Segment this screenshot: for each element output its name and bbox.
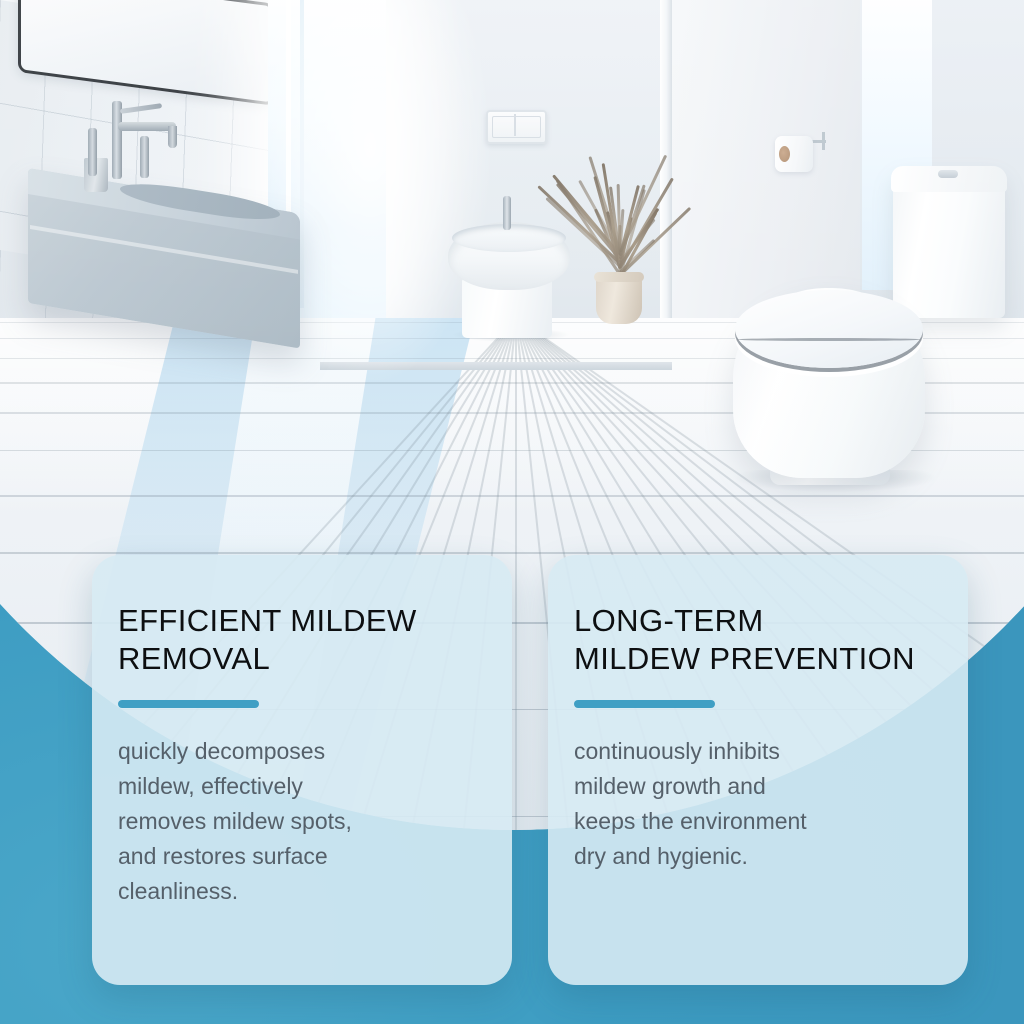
floor-grout-line-h [0,552,1024,553]
baseboard [320,362,672,370]
poster-canvas: EFFICIENT MILDEW REMOVAL quickly decompo… [0,0,1024,1024]
faucet-handle-right [140,136,149,178]
bidet-faucet [503,196,511,230]
toilet-paper-core [779,146,790,162]
faucet-spout-tip [168,126,177,148]
card-content: LONG-TERM MILDEW PREVENTION continuously… [548,555,968,874]
accent-bar [118,700,259,708]
card-body-text: quickly decomposes mildew, effectively r… [118,734,484,909]
toilet-seat-line [737,338,921,341]
cistern-flush-button [938,170,958,178]
feature-card-long-term-mildew-prevention[interactable]: LONG-TERM MILDEW PREVENTION continuously… [548,555,968,985]
toilet-paper-holder-bar [812,140,826,143]
card-body-text: continuously inhibits mildew growth and … [574,734,940,874]
floor-grout-line-h [0,495,1024,496]
card-title: LONG-TERM MILDEW PREVENTION [574,602,940,678]
potted-plant-foliage [619,160,621,278]
window-frame-right [300,0,304,308]
flush-plate [486,110,547,144]
accent-bar [574,700,715,708]
flush-plate-divider [514,114,516,136]
plant-pot [596,276,642,324]
floor-grout-line-v [515,318,517,830]
card-title: EFFICIENT MILDEW REMOVAL [118,602,484,678]
feature-card-efficient-mildew-removal[interactable]: EFFICIENT MILDEW REMOVAL quickly decompo… [92,555,512,985]
card-content: EFFICIENT MILDEW REMOVAL quickly decompo… [92,555,512,909]
plant-pot-rim [594,272,644,282]
faucet-handle-left [88,128,97,176]
toilet-seat [735,290,923,368]
